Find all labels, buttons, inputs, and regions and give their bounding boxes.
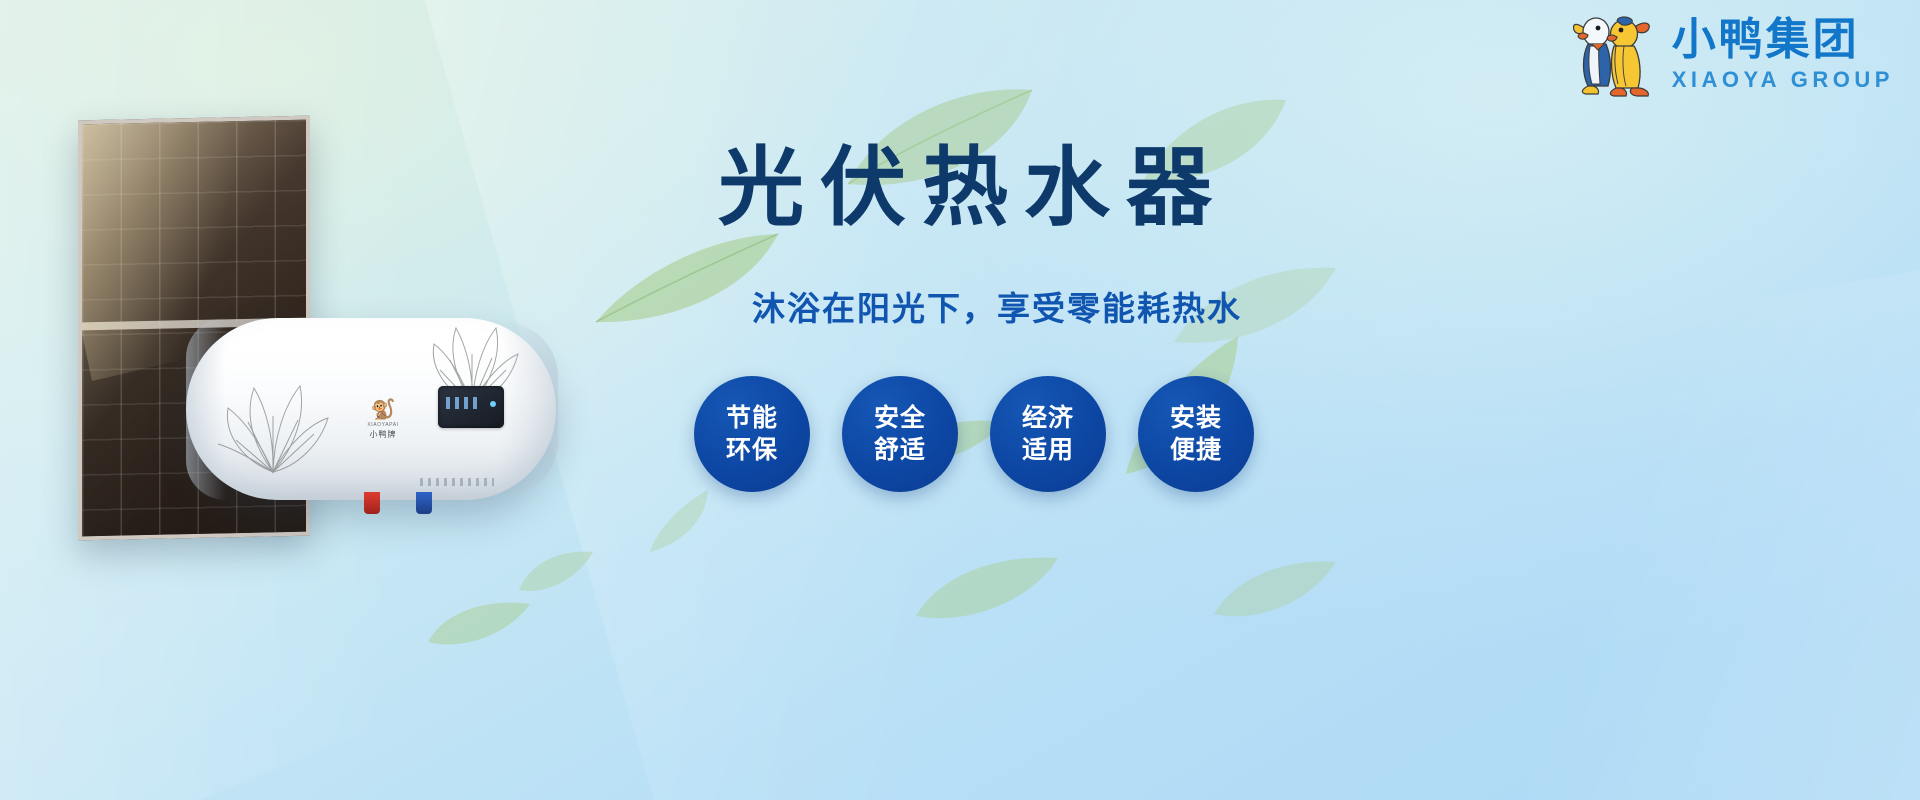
brand-logo-text: 小鸭集团 XIAOYA GROUP bbox=[1672, 18, 1894, 91]
heater-brand-mark: 🐒 XIAOYAPAI 小鸭牌 bbox=[356, 400, 410, 440]
badge-line-1: 安装 bbox=[1170, 402, 1222, 435]
leaf-decoration bbox=[516, 548, 596, 600]
duck-logo-icon: 🐒 bbox=[356, 400, 410, 420]
light-sweep-right bbox=[1161, 248, 1920, 800]
page-title: 光伏热水器 bbox=[718, 140, 1228, 236]
brand-logo[interactable]: 小鸭集团 XIAOYA GROUP bbox=[1566, 6, 1894, 102]
badge-line-2: 适用 bbox=[1022, 434, 1074, 467]
leaf-decoration bbox=[644, 486, 714, 556]
floral-pattern-icon bbox=[214, 376, 332, 484]
two-ducks-mascot-icon bbox=[1566, 6, 1662, 102]
feature-badge-list: 节能 环保 安全 舒适 经济 适用 安装 便捷 bbox=[694, 376, 1254, 492]
leaf-decoration bbox=[1210, 556, 1340, 626]
leaf-decoration bbox=[912, 552, 1062, 628]
feature-badge-safe-comfortable[interactable]: 安全 舒适 bbox=[842, 376, 958, 492]
water-heater: 🐒 XIAOYAPAI 小鸭牌 bbox=[186, 318, 556, 500]
badge-line-2: 便捷 bbox=[1170, 434, 1222, 467]
heater-label-strip bbox=[420, 478, 494, 486]
control-display-panel[interactable] bbox=[438, 386, 504, 428]
power-indicator-icon bbox=[490, 401, 496, 407]
brand-name-cn: 小鸭集团 bbox=[1672, 18, 1860, 62]
leaf-decoration bbox=[424, 598, 534, 656]
badge-line-2: 环保 bbox=[726, 434, 778, 467]
heater-brand-cn: 小鸭牌 bbox=[356, 429, 410, 440]
feature-badge-energy-saving[interactable]: 节能 环保 bbox=[694, 376, 810, 492]
feature-badge-easy-installation[interactable]: 安装 便捷 bbox=[1138, 376, 1254, 492]
heater-brand-en: XIAOYAPAI bbox=[356, 422, 410, 428]
badge-line-2: 舒适 bbox=[874, 434, 926, 467]
badge-line-1: 节能 bbox=[726, 402, 778, 435]
promo-banner: 🐒 XIAOYAPAI 小鸭牌 光伏热水器 沐浴在阳光下，享受零能耗热水 节能 … bbox=[0, 0, 1920, 800]
badge-line-1: 安全 bbox=[874, 402, 926, 435]
page-subtitle: 沐浴在阳光下，享受零能耗热水 bbox=[752, 282, 1242, 330]
badge-line-1: 经济 bbox=[1022, 402, 1074, 435]
feature-badge-economical-practical[interactable]: 经济 适用 bbox=[990, 376, 1106, 492]
display-digits bbox=[446, 397, 480, 409]
brand-name-en: XIAOYA GROUP bbox=[1672, 69, 1894, 91]
hot-water-pipe bbox=[364, 492, 380, 514]
cold-water-pipe bbox=[416, 492, 432, 514]
